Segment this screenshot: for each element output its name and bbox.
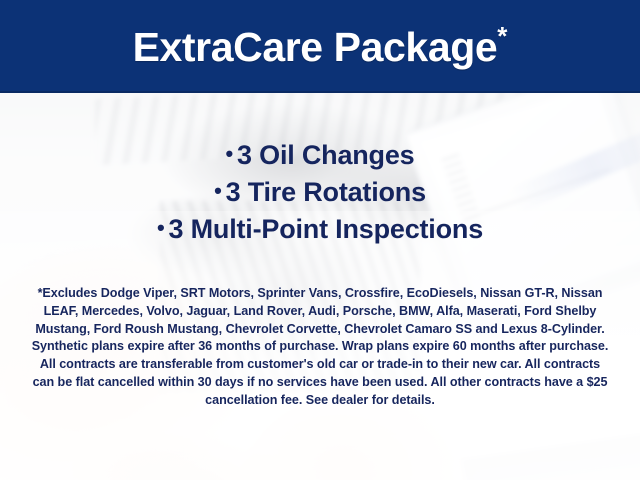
extracare-package-promo-card: ExtraCare Package* •3 Oil Changes •3 Tir…	[0, 0, 640, 480]
workbench-shadow-region	[462, 428, 640, 480]
benefits-list: •3 Oil Changes •3 Tire Rotations •3 Mult…	[0, 136, 640, 247]
bullet-icon: •	[226, 141, 234, 166]
page-title: ExtraCare Package*	[133, 23, 508, 68]
bullet-icon: •	[157, 215, 165, 240]
benefit-item-multi-point-inspections: •3 Multi-Point Inspections	[0, 210, 640, 247]
benefit-item-oil-changes: •3 Oil Changes	[0, 136, 640, 173]
shop-light-glow	[30, 421, 330, 480]
page-title-text: ExtraCare Package	[133, 24, 498, 70]
disclaimer-text: *Excludes Dodge Viper, SRT Motors, Sprin…	[28, 285, 612, 410]
benefit-item-label: 3 Tire Rotations	[226, 177, 426, 207]
benefit-item-label: 3 Oil Changes	[237, 140, 414, 170]
page-title-asterisk: *	[497, 21, 507, 51]
benefit-item-tire-rotations: •3 Tire Rotations	[0, 173, 640, 210]
header-banner: ExtraCare Package*	[0, 0, 640, 93]
bullet-icon: •	[214, 178, 222, 203]
benefit-item-label: 3 Multi-Point Inspections	[169, 214, 484, 244]
